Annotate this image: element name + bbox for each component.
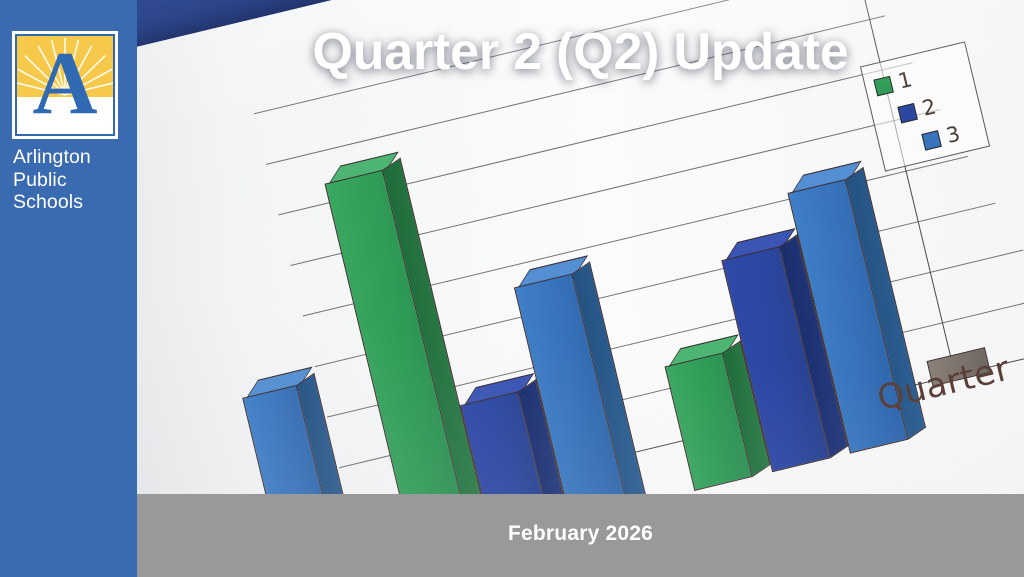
printed-paper-sheet: 1 2 3 Quarter bbox=[137, 0, 1024, 577]
brand-line-1: Arlington bbox=[13, 146, 133, 169]
legend-swatch-series2 bbox=[897, 102, 917, 122]
aps-logo: A bbox=[12, 31, 118, 139]
brand-line-2: Public bbox=[13, 169, 133, 192]
legend-label-series2: 2 bbox=[920, 96, 938, 120]
brand-sidebar: A Arlington Public Schools bbox=[0, 0, 137, 577]
presentation-slide: 1 2 3 Quarter Quarter 2 (Q2) Update bbox=[0, 0, 1024, 577]
legend-swatch-series3 bbox=[921, 130, 941, 150]
bar-group2-series1 bbox=[665, 352, 753, 490]
footer-date: February 2026 bbox=[137, 494, 1024, 577]
brand-name: Arlington Public Schools bbox=[13, 146, 133, 214]
logo-frame: A bbox=[15, 34, 115, 136]
logo-letter-a: A bbox=[17, 36, 113, 134]
background-photo: 1 2 3 Quarter bbox=[137, 0, 1024, 577]
footer-bar: February 2026 bbox=[137, 494, 1024, 577]
printed-bar-chart: 1 2 3 Quarter bbox=[254, 0, 1024, 570]
slide-title: Quarter 2 (Q2) Update bbox=[137, 24, 1024, 81]
legend-label-series3: 3 bbox=[944, 123, 962, 147]
brand-line-3: Schools bbox=[13, 191, 133, 214]
